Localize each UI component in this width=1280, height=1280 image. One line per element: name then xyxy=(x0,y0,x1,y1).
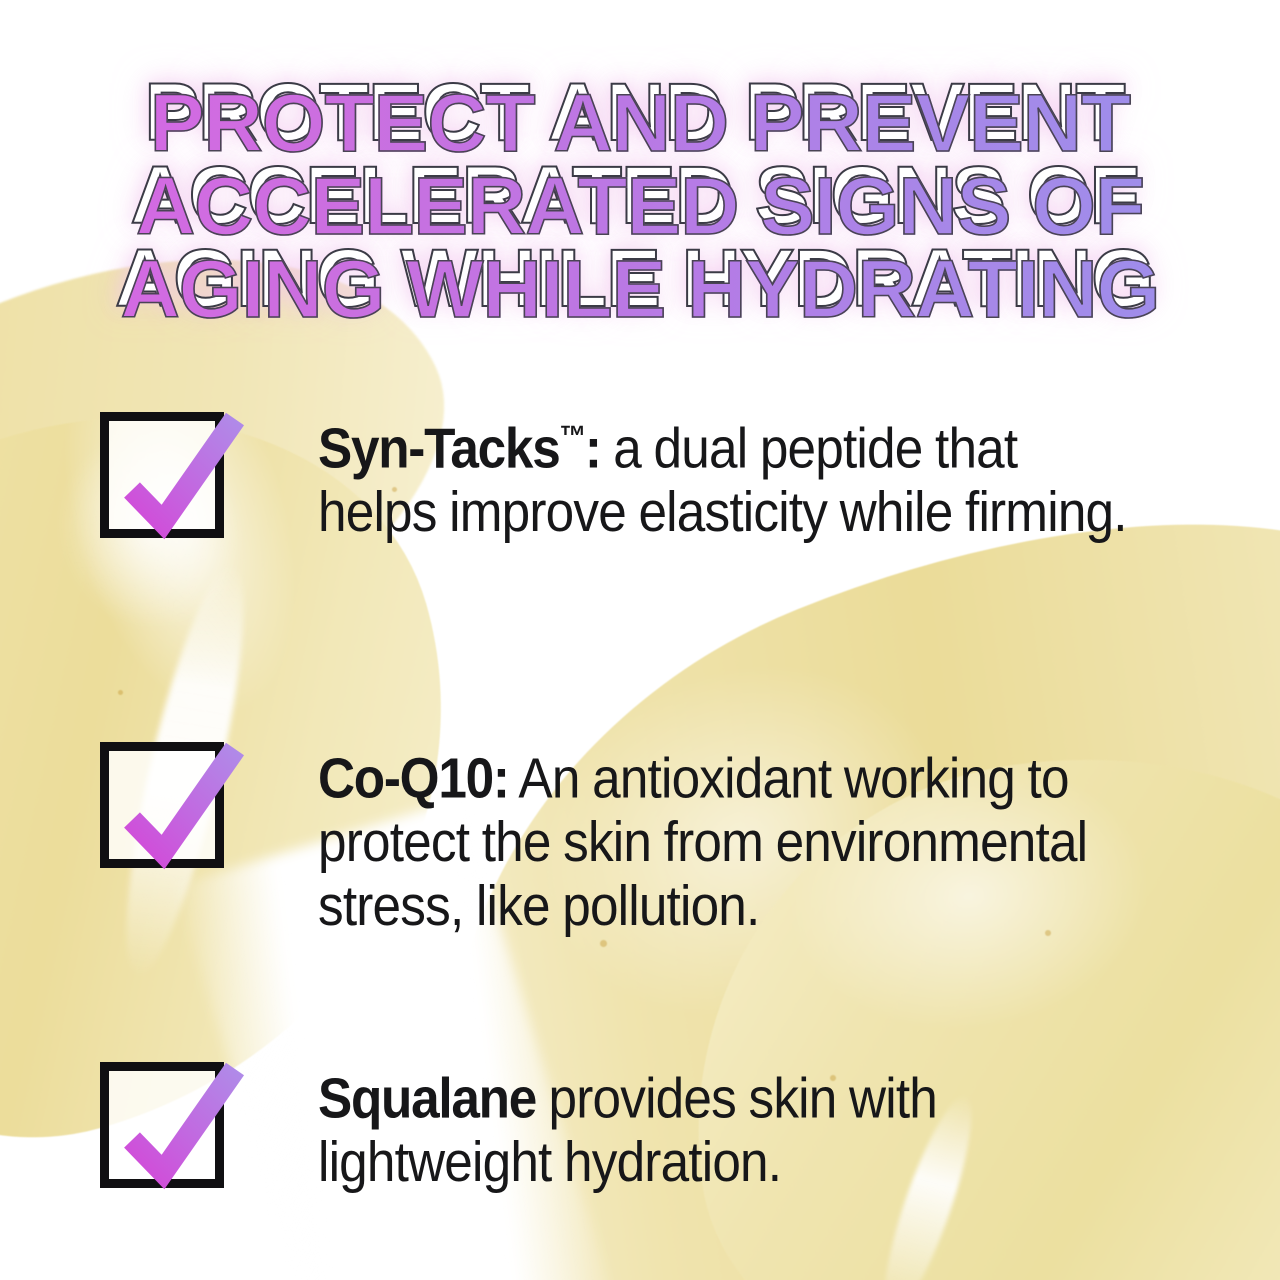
headline-line-3: AGING WHILE HYDRATING AGING WHILE HYDRAT… xyxy=(0,248,1280,331)
checkbox-co-q10[interactable] xyxy=(100,742,224,868)
headline: PROTECT AND PREVENT PROTECT AND PREVENT … xyxy=(0,82,1280,331)
headline-line-1-face: PROTECT AND PREVENT xyxy=(150,78,1130,169)
ingredient-separator: : xyxy=(585,416,601,480)
list-item: Syn-Tacks™: a dual peptide that helps im… xyxy=(0,405,1280,544)
checkmark-icon xyxy=(96,728,256,878)
ingredient-name: Squalane xyxy=(318,1066,536,1130)
headline-line-1: PROTECT AND PREVENT PROTECT AND PREVENT xyxy=(0,82,1280,165)
checkmark-icon xyxy=(96,1048,256,1198)
ingredient-description: Squalane provides skin with lightweight … xyxy=(318,1055,1184,1194)
checkbox-squalane[interactable] xyxy=(100,1062,224,1188)
headline-line-2-face: ACCELERATED SIGNS OF xyxy=(136,161,1144,252)
ingredient-description: Syn-Tacks™: a dual peptide that helps im… xyxy=(318,405,1184,544)
checkmark-icon xyxy=(96,398,256,548)
ingredient-description: Co-Q10: An antioxidant working to protec… xyxy=(318,735,1184,938)
cream-speck xyxy=(600,940,607,947)
list-item: Squalane provides skin with lightweight … xyxy=(0,1055,1280,1194)
ingredient-separator: : xyxy=(493,746,509,810)
list-item: Co-Q10: An antioxidant working to protec… xyxy=(0,735,1280,938)
headline-line-3-face: AGING WHILE HYDRATING xyxy=(121,244,1160,335)
ingredient-name: Co-Q10 xyxy=(318,746,493,810)
infographic-canvas: PROTECT AND PREVENT PROTECT AND PREVENT … xyxy=(0,0,1280,1280)
ingredient-name: Syn-Tacks xyxy=(318,416,559,480)
cream-speck xyxy=(118,690,123,695)
trademark-symbol: ™ xyxy=(559,420,584,453)
checkbox-syn-tacks[interactable] xyxy=(100,412,224,538)
headline-line-2: ACCELERATED SIGNS OF ACCELERATED SIGNS O… xyxy=(0,165,1280,248)
